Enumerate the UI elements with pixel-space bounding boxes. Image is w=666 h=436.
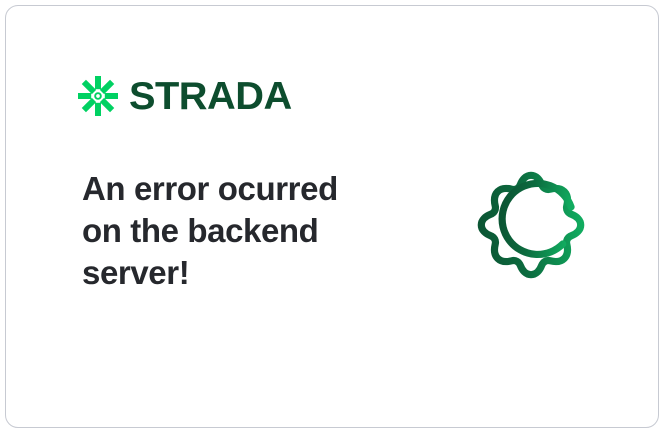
strada-asterisk-icon — [78, 76, 118, 116]
error-card: STRADA An error ocurred on the backend s… — [5, 5, 659, 428]
error-screen: STRADA An error ocurred on the backend s… — [0, 0, 666, 436]
brand-logo: STRADA — [78, 72, 289, 120]
error-heading: An error ocurred on the backend server! — [82, 168, 382, 295]
gear-icon — [450, 144, 612, 306]
brand-wordmark: STRADA — [129, 77, 292, 116]
